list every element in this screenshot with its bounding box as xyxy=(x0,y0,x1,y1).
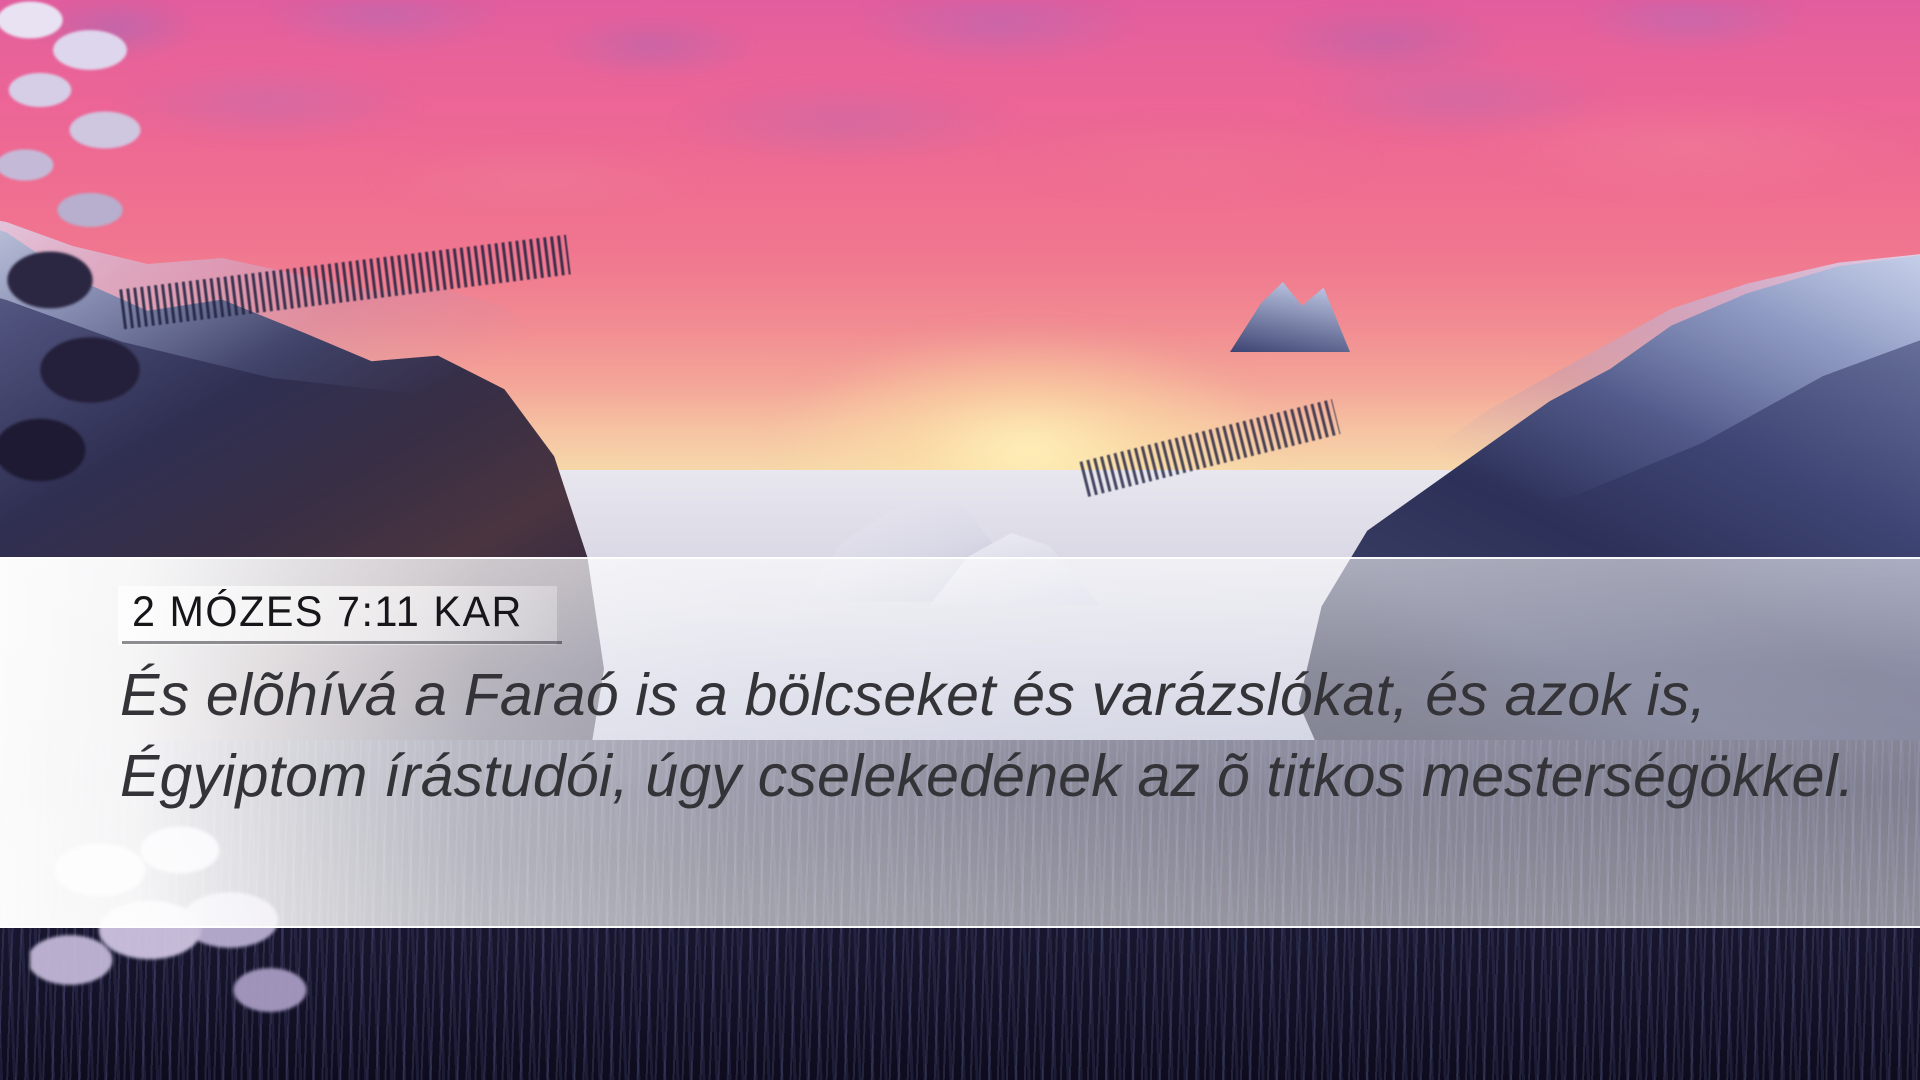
verse-body-text: És elõhívá a Faraó is a bölcseket és var… xyxy=(120,655,1870,818)
wallpaper-canvas: 2 MÓZES 7:11 KAR És elõhívá a Faraó is a… xyxy=(0,0,1920,1080)
verse-reference-underline xyxy=(122,641,562,644)
verse-reference-box: 2 MÓZES 7:11 KAR xyxy=(118,586,557,645)
verse-overlay-panel: 2 MÓZES 7:11 KAR És elõhívá a Faraó is a… xyxy=(0,557,1920,928)
verse-reference: 2 MÓZES 7:11 KAR xyxy=(132,590,523,635)
foreground-snowy-tree xyxy=(0,0,210,540)
verse-card: 2 MÓZES 7:11 KAR És elõhívá a Faraó is a… xyxy=(118,557,1880,928)
